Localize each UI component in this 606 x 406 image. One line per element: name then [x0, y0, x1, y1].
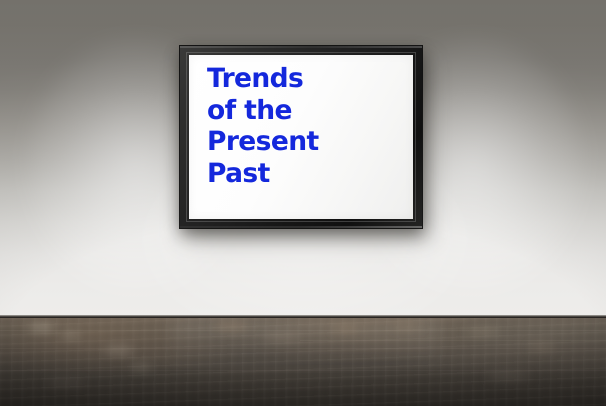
floor-scuff	[214, 322, 248, 330]
concrete-floor	[0, 318, 606, 406]
artwork-canvas: Trends of the Present Past	[189, 55, 413, 219]
floor-seam	[300, 340, 606, 341]
gallery-scene: Trends of the Present Past Gallery inter…	[0, 0, 606, 406]
floor-seam	[0, 330, 606, 331]
frame-highlight-top	[180, 46, 422, 48]
floor-scuff	[28, 324, 54, 331]
floor-seam	[0, 370, 606, 371]
floor-seam	[0, 348, 606, 349]
frame-highlight-bottom	[180, 226, 422, 228]
floor-scuff	[130, 364, 152, 371]
floor-scuff	[466, 328, 502, 336]
framed-artwork[interactable]: Trends of the Present Past	[180, 46, 422, 228]
artwork-title-text: Trends of the Present Past	[207, 63, 319, 189]
floor-scuff	[104, 346, 134, 354]
floor-scuff	[46, 378, 86, 387]
floor-scuff	[62, 332, 80, 338]
floor-texture	[0, 318, 606, 406]
floor-scuff	[262, 334, 302, 341]
floor-scuff	[392, 323, 422, 330]
floor-scuff	[528, 344, 556, 351]
floor-scuff	[332, 326, 358, 332]
floor-scuff	[486, 372, 530, 381]
